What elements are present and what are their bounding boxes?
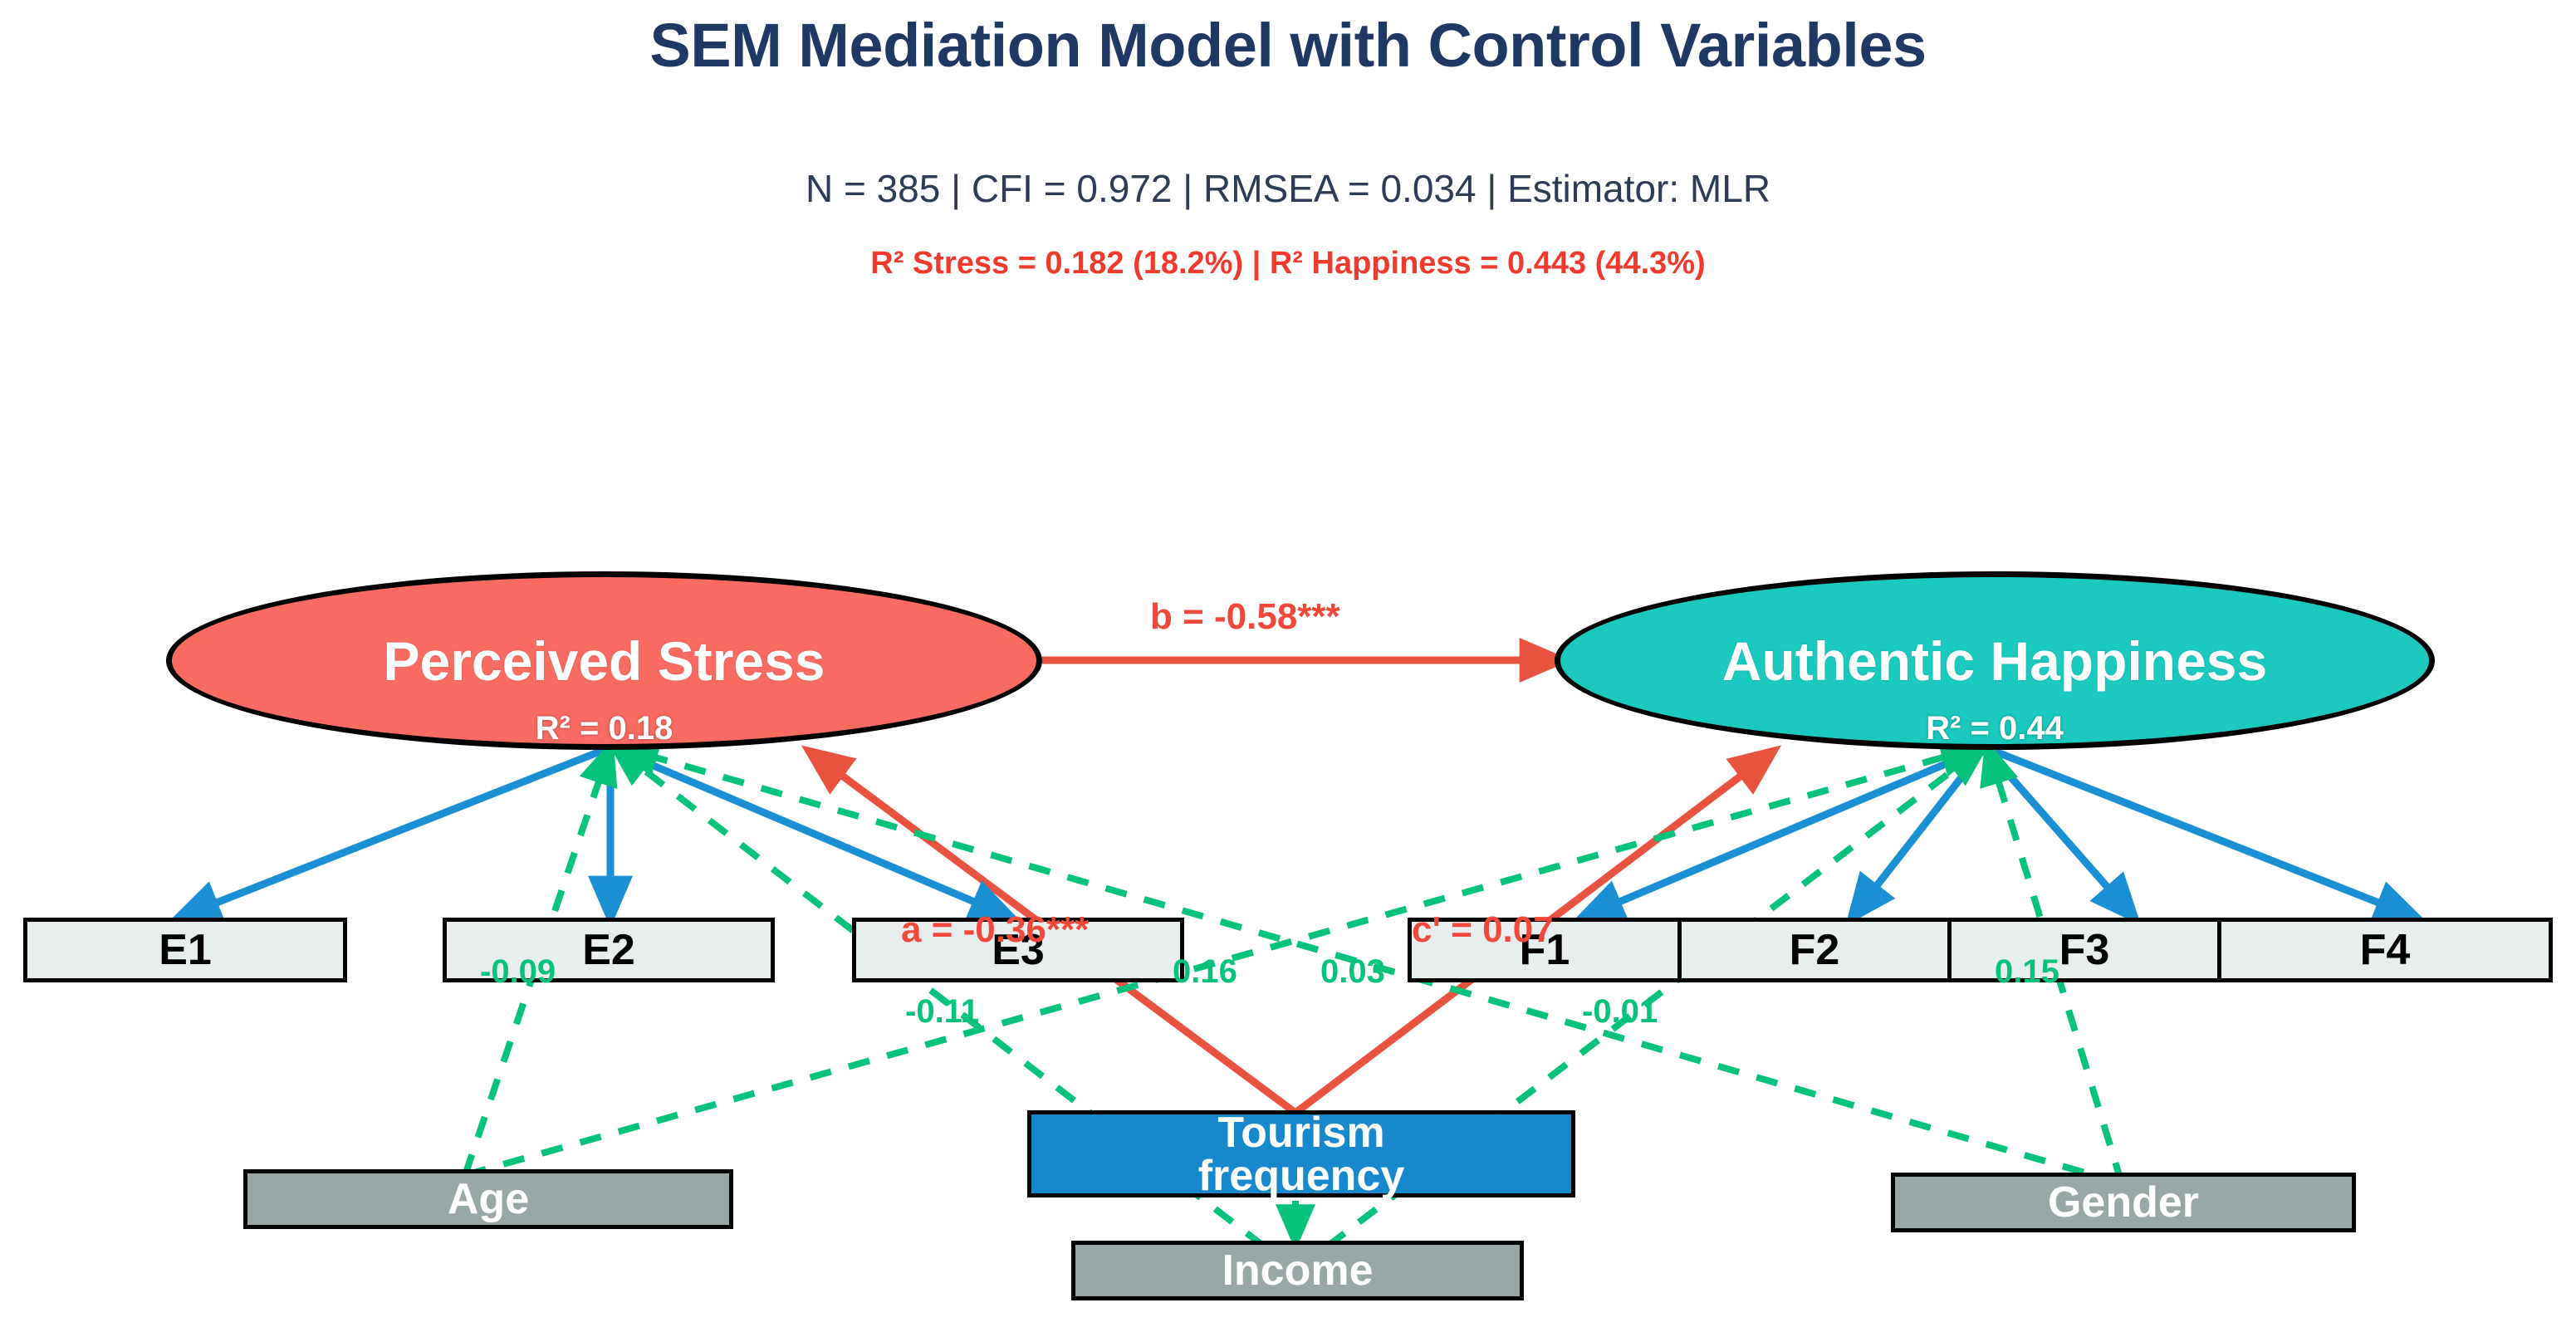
- sem-diagram-canvas: SEM Mediation Model with Control Variabl…: [0, 0, 2576, 1337]
- path-label-c-prime: c' = 0.07: [1412, 909, 1554, 951]
- indicator-box-f2[interactable]: F2: [1677, 918, 1952, 982]
- control-label: Income: [1222, 1246, 1373, 1295]
- indicator-box-f4[interactable]: F4: [2217, 918, 2553, 982]
- indicator-label: F3: [2059, 925, 2110, 975]
- control-label: Gender: [2048, 1178, 2199, 1227]
- path-label-a: a = -0.36***: [901, 909, 1089, 951]
- indicator-label: E1: [159, 925, 212, 975]
- path-label-b: b = -0.58***: [1150, 596, 1340, 638]
- indicator-box-e1[interactable]: E1: [23, 918, 347, 982]
- control-label: Age: [448, 1174, 529, 1224]
- control-box-tourism-frequency[interactable]: Tourism frequency: [1027, 1110, 1575, 1197]
- path-label-gender-to-happiness: 0.15: [1995, 953, 2059, 991]
- control-box-income[interactable]: Income: [1071, 1241, 1524, 1300]
- indicator-label: F2: [1790, 925, 1840, 975]
- r2-stress-label: R² = 0.18: [166, 710, 1042, 747]
- path-label-gender-to-stress: 0.16: [1173, 953, 1237, 991]
- loadings-stress: [179, 747, 1011, 918]
- path-label-age-to-happiness: 0.03: [1320, 953, 1385, 991]
- control-box-gender[interactable]: Gender: [1891, 1173, 2356, 1232]
- loadings-happiness: [1582, 747, 2417, 918]
- indicator-box-f3[interactable]: F3: [1947, 918, 2221, 982]
- control-label: Tourism frequency: [1164, 1111, 1438, 1197]
- fit-indices-subtitle: N = 385 | CFI = 0.972 | RMSEA = 0.034 | …: [0, 166, 2576, 211]
- path-label-age-to-stress: -0.09: [480, 953, 556, 991]
- latent-authentic-happiness-label: Authentic Happiness: [1722, 629, 2267, 693]
- path-label-income-to-happiness: -0.01: [1582, 993, 1658, 1031]
- latent-perceived-stress-label: Perceived Stress: [383, 629, 825, 693]
- control-box-age[interactable]: Age: [243, 1169, 733, 1229]
- r-squared-subtitle: R² Stress = 0.182 (18.2%) | R² Happiness…: [0, 246, 2576, 282]
- page-title: SEM Mediation Model with Control Variabl…: [0, 10, 2576, 81]
- indicator-label: F4: [2360, 925, 2411, 975]
- indicator-label: E2: [582, 925, 635, 975]
- path-label-income-to-stress: -0.11: [905, 993, 979, 1031]
- r2-happiness-label: R² = 0.44: [1555, 710, 2435, 747]
